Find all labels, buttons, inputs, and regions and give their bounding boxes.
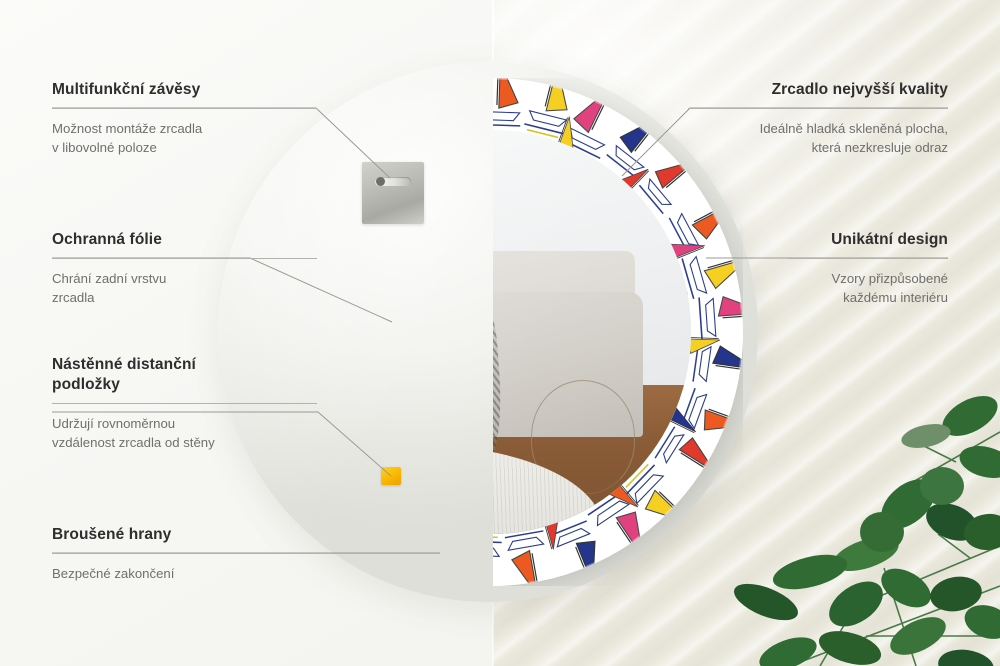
callout-title: Multifunkční závěsy <box>52 80 317 100</box>
callout-rule <box>788 258 948 259</box>
callout-title: Zrcadlo nejvyšší kvality <box>688 80 948 100</box>
keyhole-slot <box>375 177 411 186</box>
callout-rule <box>688 108 948 109</box>
callout-description: Ideálně hladká skleněná plocha, která ne… <box>688 119 948 158</box>
callout-description: Možnost montáže zrcadla v libovolné polo… <box>52 119 317 158</box>
callout-description: Chrání zadní vrstvu zrcadla <box>52 269 317 308</box>
mirror-glass-reflection <box>493 130 691 534</box>
callout-description: Vzory přizpůsobené každému interiéru <box>788 269 948 308</box>
callout-highest-quality-mirror: Zrcadlo nejvyšší kvality Ideálně hladká … <box>688 80 948 158</box>
callout-wall-spacers: Nástěnné distanční podložky Udržují rovn… <box>52 355 317 452</box>
callout-multifunctional-hangers: Multifunkční závěsy Možnost montáže zrca… <box>52 80 317 158</box>
callout-title: Nástěnné distanční podložky <box>52 355 317 395</box>
callout-title: Ochranná fólie <box>52 230 317 250</box>
callout-description: Bezpečné zakončení <box>52 564 440 583</box>
callout-description: Udržují rovnoměrnou vzdálenost zrcadla o… <box>52 414 317 453</box>
foliage-decoration <box>670 336 1000 666</box>
callout-ground-edges: Broušené hrany Bezpečné zakončení <box>52 525 440 583</box>
glass-sheen <box>493 130 691 534</box>
infographic-canvas: Multifunkční závěsy Možnost montáže zrca… <box>0 0 1000 666</box>
spacer-pad <box>381 467 401 485</box>
callout-title: Unikátní design <box>788 230 948 250</box>
callout-title: Broušené hrany <box>52 525 440 545</box>
callout-unique-design: Unikátní design Vzory přizpůsobené každé… <box>788 230 948 308</box>
callout-rule <box>52 108 317 109</box>
callout-rule <box>52 403 317 404</box>
callout-rule <box>52 258 317 259</box>
callout-protective-film: Ochranná fólie Chrání zadní vrstvu zrcad… <box>52 230 317 308</box>
callout-rule <box>52 553 440 554</box>
hanger-plate <box>362 162 424 224</box>
